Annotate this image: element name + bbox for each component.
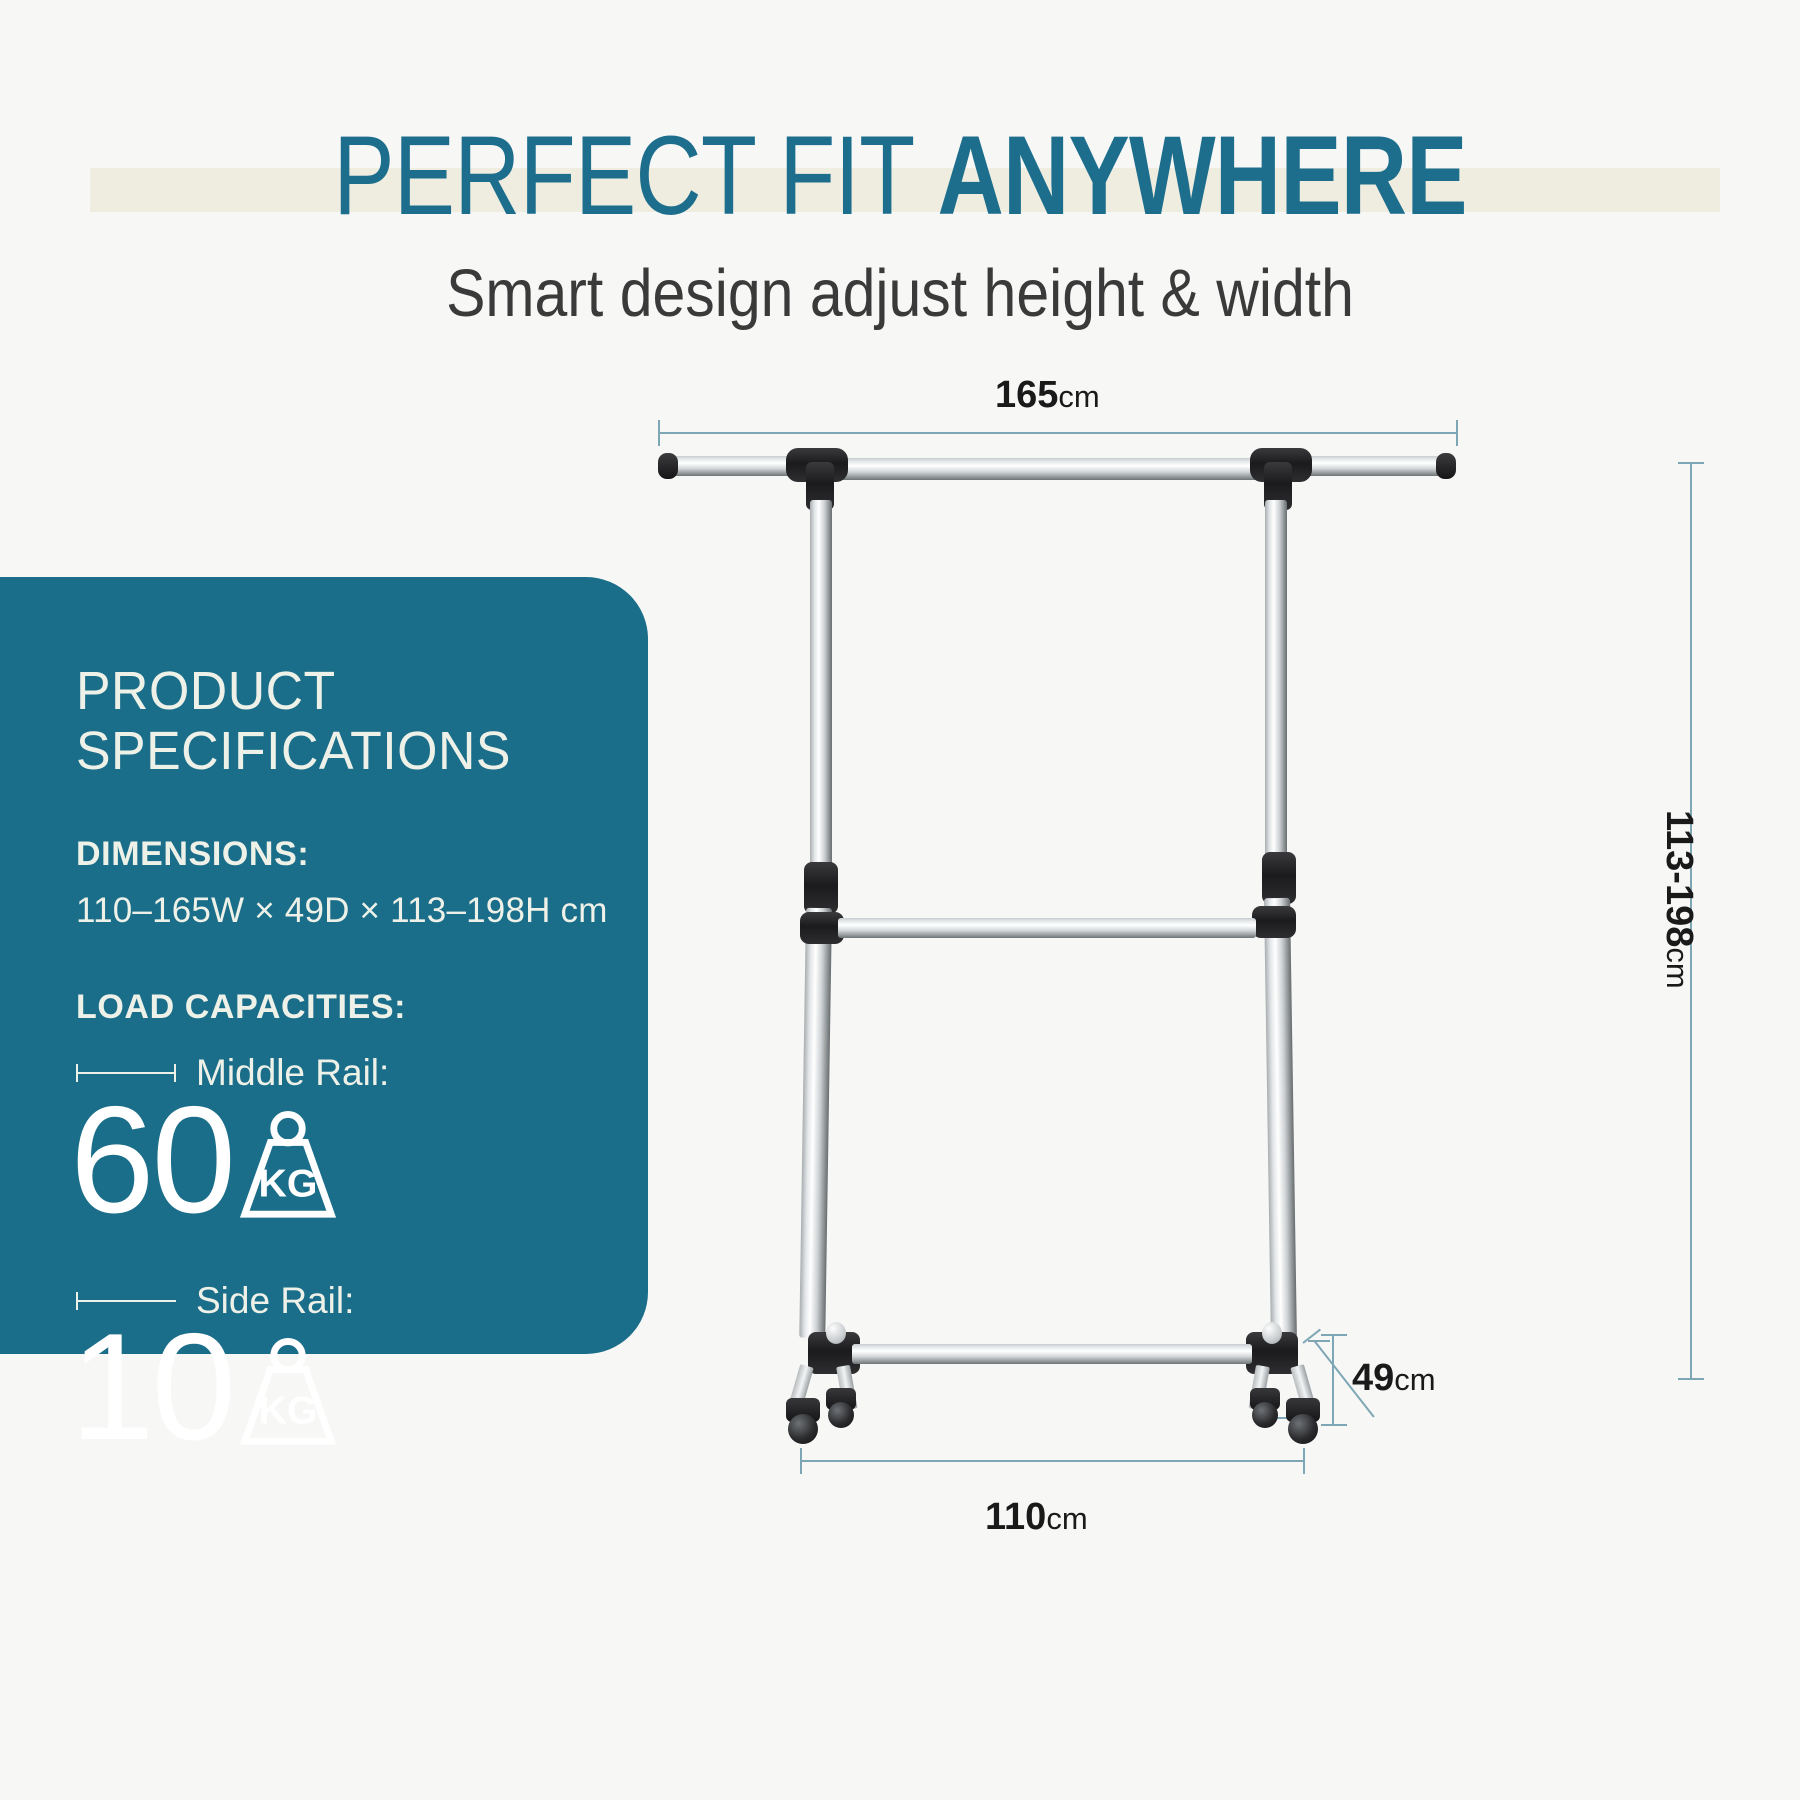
width-top-dimension-label: 165cm	[995, 374, 1100, 417]
left-front-caster-wheel	[788, 1414, 818, 1444]
width-bottom-unit: cm	[1046, 1501, 1087, 1536]
width-top-guide-cap-right	[1456, 420, 1458, 446]
depth-guide-tick-upper	[1308, 1340, 1330, 1342]
height-right-guide-cap-bottom	[1678, 1378, 1704, 1380]
top-rail-left-endcap	[658, 453, 678, 479]
product-illustration: 165cm 113-198cm 49cm 110cm	[0, 0, 1800, 1800]
width-top-guide-cap-left	[658, 420, 660, 446]
right-height-adjust-collar	[1262, 852, 1296, 904]
top-rail-right-endcap	[1436, 453, 1456, 479]
middle-rail-right-joint	[1252, 906, 1296, 938]
width-bottom-value: 110	[985, 1496, 1046, 1538]
left-upright-upper	[810, 500, 832, 872]
width-bottom-guide-cap-right	[1303, 1448, 1305, 1474]
base-left-knob	[826, 1322, 846, 1344]
width-bottom-dimension-label: 110cm	[985, 1496, 1088, 1539]
right-front-caster-wheel	[1288, 1414, 1318, 1444]
height-right-unit: cm	[1660, 947, 1695, 988]
right-rear-caster-wheel	[1252, 1402, 1278, 1428]
right-upright-upper	[1265, 500, 1287, 862]
depth-unit: cm	[1394, 1362, 1435, 1397]
width-top-unit: cm	[1058, 379, 1099, 414]
width-bottom-guide-cap-left	[800, 1448, 802, 1474]
left-rear-caster-wheel	[828, 1402, 854, 1428]
base-right-knob	[1262, 1322, 1282, 1344]
depth-guide-cap-a	[1321, 1334, 1347, 1336]
left-height-adjust-collar	[804, 862, 838, 914]
right-upright-lower	[1264, 898, 1297, 1338]
width-top-guide-line	[658, 432, 1458, 434]
base-crossbar	[852, 1344, 1252, 1364]
depth-value: 49	[1352, 1357, 1394, 1399]
width-bottom-guide-line	[800, 1460, 1305, 1462]
depth-guide-cap-b	[1321, 1424, 1347, 1426]
left-upright-lower	[799, 908, 832, 1338]
top-rail-main	[820, 458, 1280, 480]
height-right-dimension-label: 113-198cm	[1657, 810, 1700, 989]
width-top-value: 165	[995, 374, 1058, 416]
middle-rail	[838, 918, 1256, 938]
height-right-guide-cap-top	[1678, 462, 1704, 464]
depth-guide-vertical	[1332, 1334, 1334, 1426]
depth-dimension-label: 49cm	[1352, 1357, 1436, 1400]
height-right-value: 113-198	[1658, 810, 1700, 947]
